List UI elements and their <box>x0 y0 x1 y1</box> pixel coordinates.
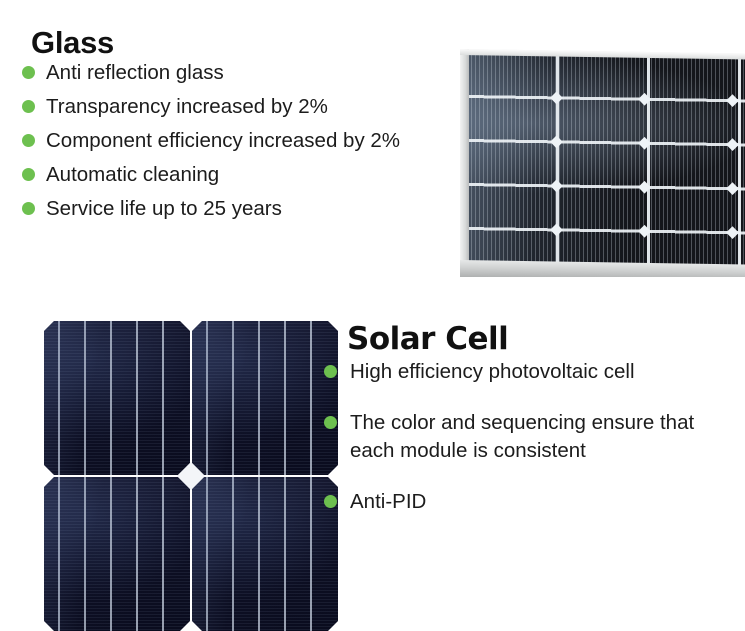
product-feature-page: { "page": { "background_color": "#ffffff… <box>0 0 745 623</box>
solar-cell <box>44 477 190 631</box>
list-item-label: Transparency increased by 2% <box>46 90 420 124</box>
bullet-point-icon <box>22 66 35 79</box>
bullet-point-icon <box>324 495 337 508</box>
cell-sheen <box>44 321 190 475</box>
list-item: Anti-PID <box>322 488 737 516</box>
cell-sheen <box>192 477 338 631</box>
list-item: High efficiency photovoltaic cell <box>322 358 737 386</box>
list-item: Transparency increased by 2% <box>20 90 420 124</box>
bullet-point-icon <box>22 100 35 113</box>
list-item-label: Service life up to 25 years <box>46 192 420 226</box>
cell-sheen <box>192 321 338 475</box>
list-item-label: Component efficiency increased by 2% <box>46 124 420 158</box>
bullet-point-icon <box>22 134 35 147</box>
bullet-point-icon <box>324 365 337 378</box>
bullet-point-icon <box>324 416 337 429</box>
solar-cell-section-heading: Solar Cell <box>347 321 508 357</box>
solar-panel-photo <box>460 49 745 277</box>
cell-sheen <box>44 477 190 631</box>
list-item-label: Anti-PID <box>350 488 737 516</box>
solar-cells-photo <box>44 321 338 631</box>
list-item: Anti reflection glass <box>20 56 420 90</box>
bullet-point-icon <box>22 168 35 181</box>
list-item-label: Automatic cleaning <box>46 158 420 192</box>
cell-column-gaps <box>468 54 745 272</box>
list-item: Component efficiency increased by 2% <box>20 124 420 158</box>
list-item: Automatic cleaning <box>20 158 420 192</box>
panel-frame-left-edge <box>460 49 469 277</box>
solar-cell <box>44 321 190 475</box>
list-item-label: High efficiency photovoltaic cell <box>350 358 737 386</box>
list-item-label: The color and sequencing ensure that eac… <box>350 409 737 465</box>
solar-cell <box>192 477 338 631</box>
solar-cell-feature-list: High efficiency photovoltaic cell The co… <box>322 358 737 539</box>
list-item: Service life up to 25 years <box>20 192 420 226</box>
glass-feature-list: Anti reflection glass Transparency incre… <box>20 56 420 226</box>
panel-laminate <box>468 54 745 272</box>
list-item-label: Anti reflection glass <box>46 56 420 90</box>
bullet-point-icon <box>22 202 35 215</box>
list-item: The color and sequencing ensure that eac… <box>322 409 737 465</box>
solar-cell <box>192 321 338 475</box>
